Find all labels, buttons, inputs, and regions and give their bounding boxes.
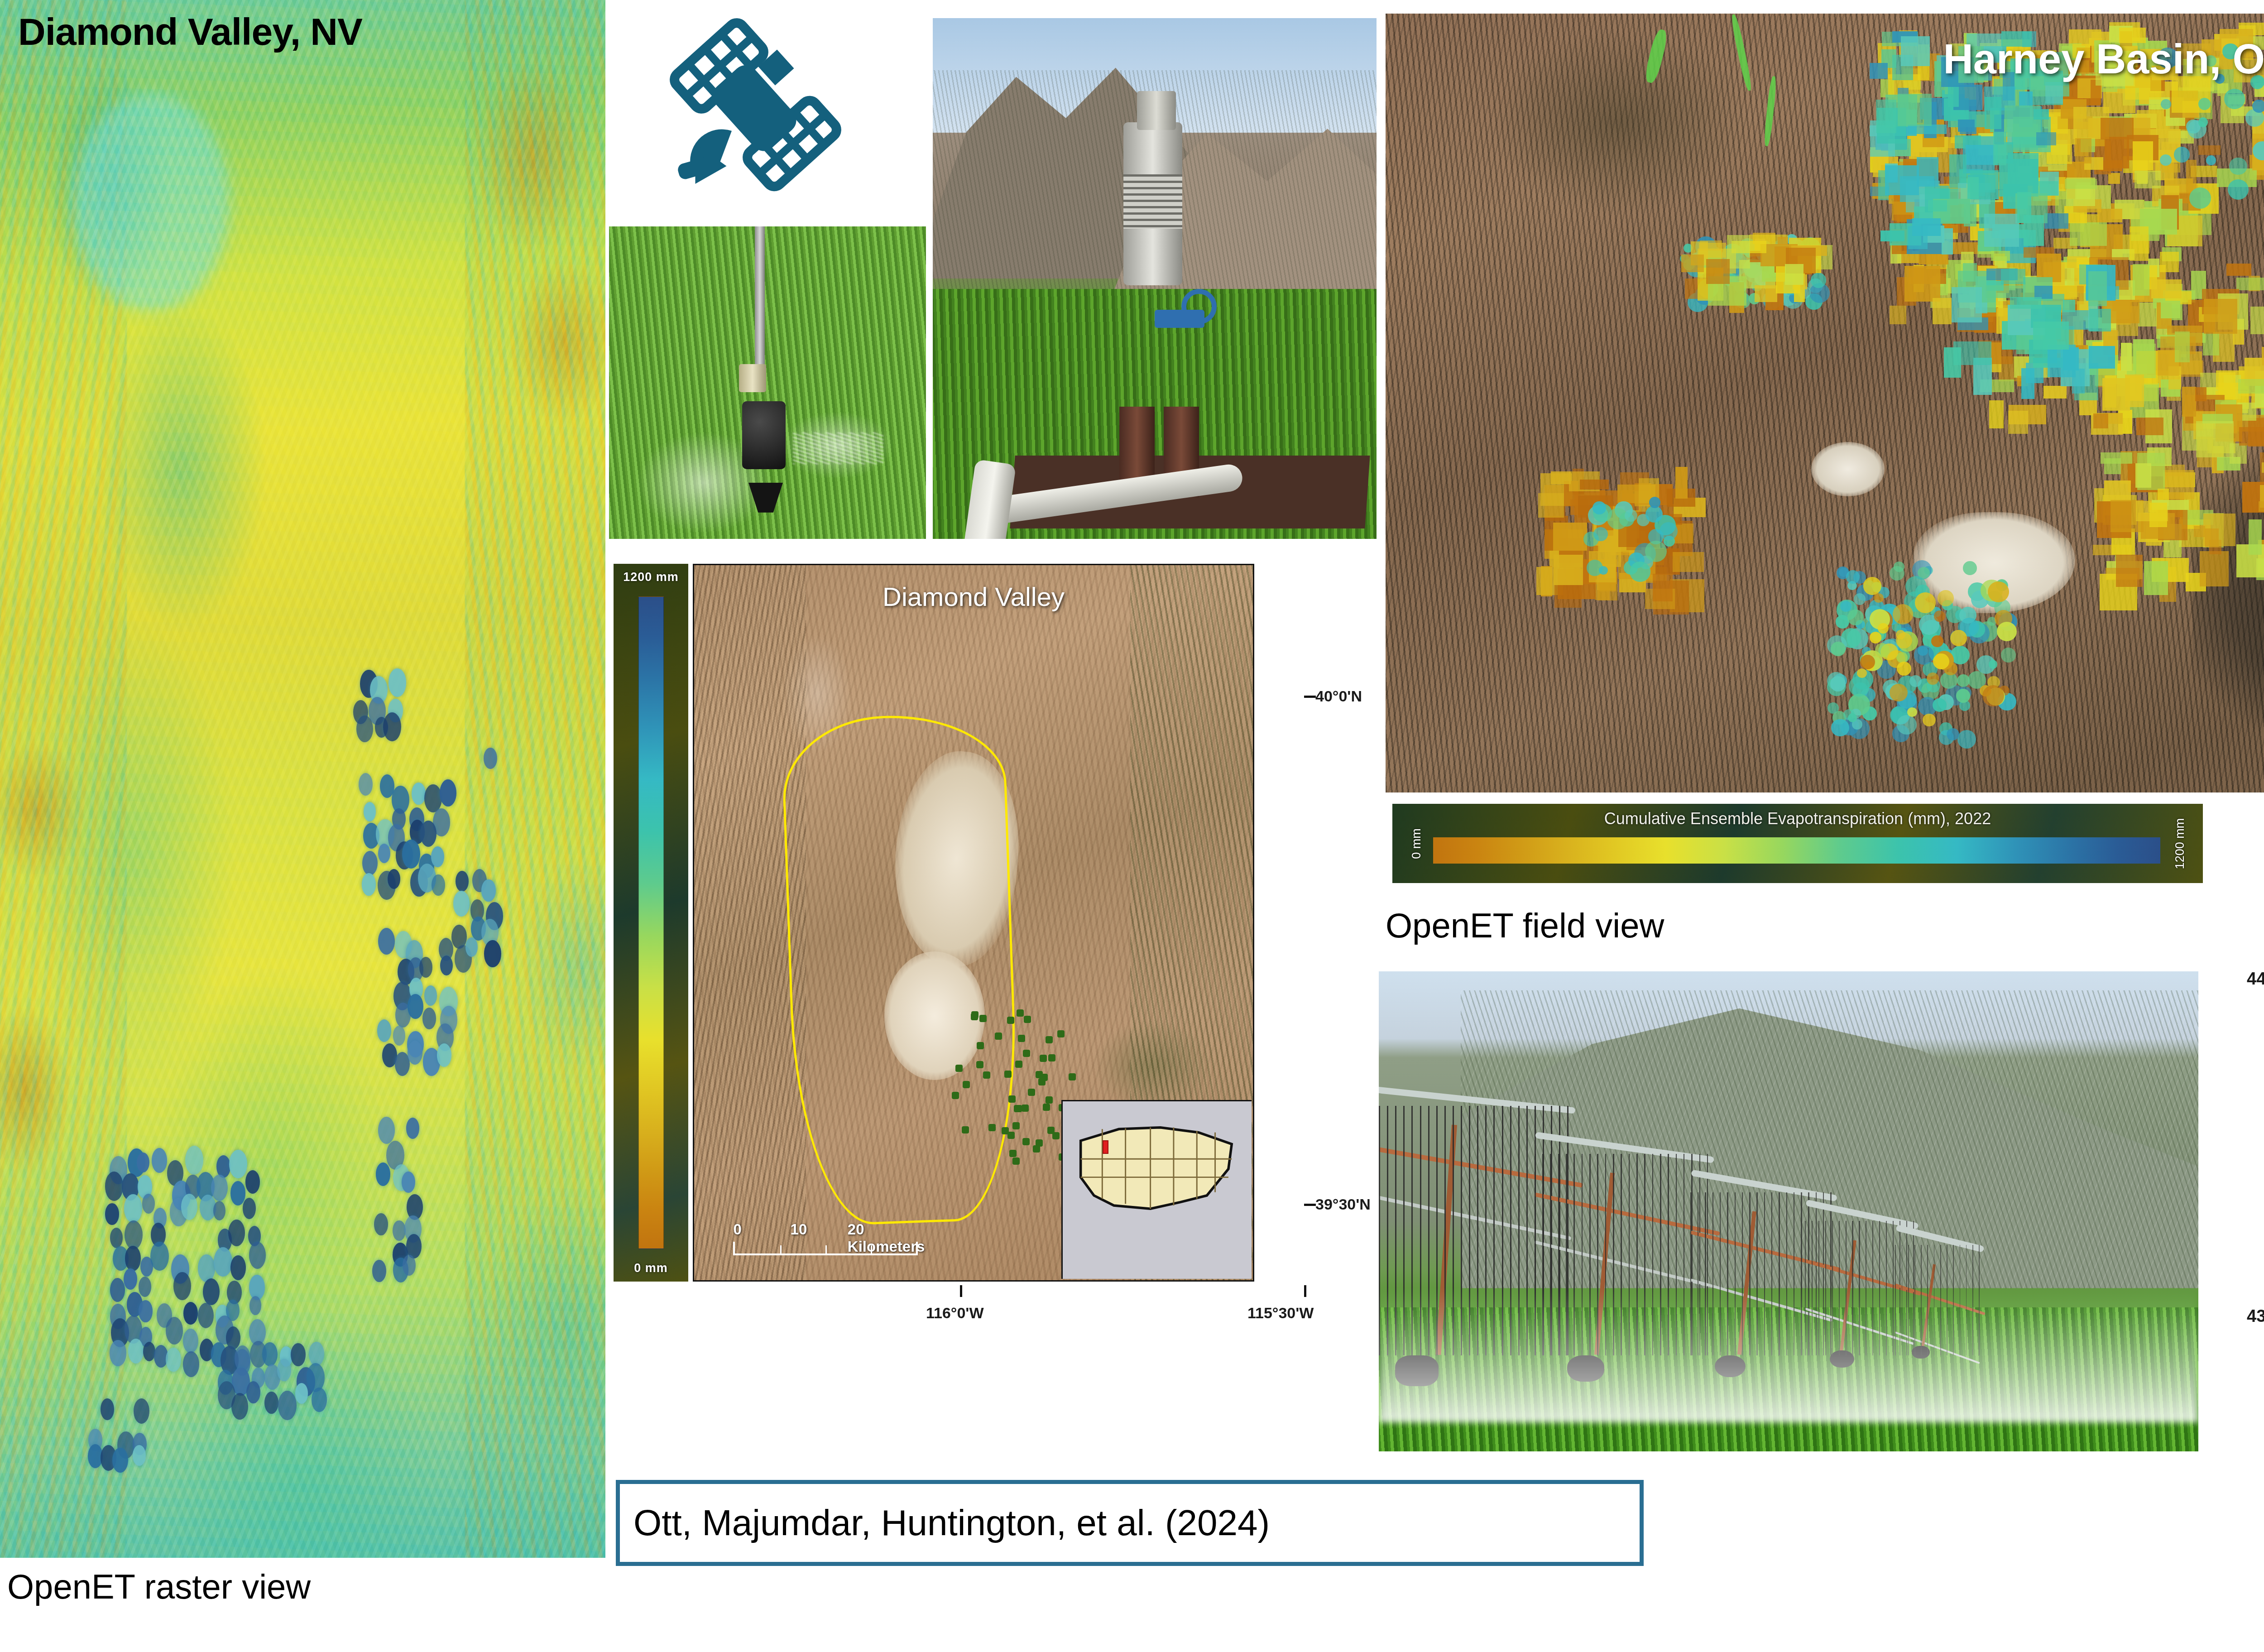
harney-field-polygon [2133, 141, 2153, 170]
dv-scale-tick-10: 10 [791, 1221, 807, 1238]
dv-field-square [1012, 1122, 1020, 1129]
citation-text: Ott, Majumdar, Huntington, et al. (2024) [633, 1502, 1270, 1544]
raster-pivot-circle [359, 773, 373, 796]
harney-field-polygon [2196, 421, 2234, 457]
dv-field-square [977, 1042, 984, 1049]
raster-pivot-circle [262, 1342, 278, 1367]
sprinkler-deflector [748, 483, 783, 513]
harney-pivot-circle [1938, 590, 1954, 606]
harney-pivot-circle [1874, 593, 1884, 603]
harney-field-polygon [2135, 463, 2151, 488]
raster-pivot-circle [309, 1342, 324, 1366]
raster-pivot-circle [372, 1260, 386, 1282]
dv-field-square [1017, 1009, 1024, 1017]
harney-pivot-circle [1915, 592, 1936, 613]
harney-field-polygon [2250, 307, 2264, 334]
harney-field-polygon [1885, 165, 1919, 195]
raster-pivot-circle [412, 783, 426, 805]
raster-pivot-circle [378, 928, 395, 955]
dv-irrigated-fields [951, 1008, 1074, 1166]
harney-field-polygon [1538, 493, 1564, 518]
harney-field-polygon [2070, 222, 2107, 246]
sprinkler-riser [755, 226, 765, 376]
raster-pivot-circle [213, 1201, 225, 1220]
harney-pivot-circle [1897, 662, 1911, 676]
raster-pivot-circle [133, 1445, 146, 1466]
dv-field-square [963, 1081, 970, 1088]
harney-pivot-circle [1950, 630, 1967, 646]
harney-field-polygon [2104, 458, 2121, 474]
harney-field-polygon [2001, 269, 2026, 284]
raster-pivot-circle [110, 1228, 123, 1248]
raster-pivot-circle [125, 1220, 143, 1249]
dv-field-square [983, 1071, 990, 1079]
harney-pivot-circle [1988, 581, 2009, 602]
colorbar-min-label: 0 mm [614, 1261, 688, 1275]
dv-field-square [1048, 1054, 1055, 1061]
harney-pivot-circle [1831, 719, 1849, 737]
openet-raster-map [0, 0, 605, 1558]
harney-field-polygon [2136, 418, 2163, 435]
harney-pivot-circle [1931, 635, 1943, 647]
diamond-valley-satellite-map: Diamond Valley 0 10 20 Kilometers [693, 564, 1254, 1282]
raster-pivot-circle [124, 1194, 142, 1223]
harney-field-polygon [2236, 278, 2264, 290]
harney-basin-locator-figure: Harney Basin 0 25 50 Kilometers [2244, 815, 2264, 1639]
raster-pivot-circle [356, 716, 373, 742]
dv-field-square [1018, 1035, 1025, 1042]
raster-pivot-circle [139, 1300, 152, 1322]
raster-pivot-circle [166, 1317, 183, 1345]
raster-pivot-circle [198, 1254, 215, 1282]
dv-field-square [1057, 1030, 1065, 1037]
harney-field-polygon [1706, 259, 1730, 284]
raster-pivot-circle [229, 1150, 247, 1178]
harney-pivot-circle [1593, 527, 1607, 541]
harney-pivot-circle [1645, 506, 1663, 523]
harney-pivot-circle [1907, 707, 1917, 717]
harney-field-polygon [2102, 378, 2130, 411]
raster-pivot-circle [128, 1339, 144, 1364]
harney-field-polygon [1952, 287, 1982, 322]
dv-scale-tick-0: 0 [733, 1221, 741, 1238]
dv-field-square [1007, 1132, 1015, 1139]
raster-pivot-circle [295, 1383, 308, 1403]
harney-field-polygon [2259, 501, 2264, 512]
dv-field-square [971, 1011, 979, 1018]
harney-field-polygon [2226, 264, 2251, 276]
harney-field-polygon [2089, 346, 2115, 369]
harney-field-polygon [2093, 413, 2108, 428]
harney-field-polygon [2033, 322, 2069, 350]
raster-pivot-circle [307, 1363, 325, 1393]
raster-pivot-circle [364, 802, 376, 821]
dv-field-square [1043, 1104, 1050, 1111]
harney-field-polygon [2151, 279, 2182, 298]
raster-pivot-circle [278, 1391, 297, 1420]
harney-field-polygon [1963, 263, 1977, 282]
raster-pivot-circle [105, 1203, 119, 1225]
harney-field-polygon [2116, 555, 2143, 587]
harney-field-polygon [1967, 177, 1979, 198]
raster-pivot-circle [124, 1268, 137, 1290]
harney-colorbar-strip [1433, 837, 2160, 864]
harney-field-polygon [2195, 387, 2206, 401]
raster-pivot-circle [198, 1303, 214, 1328]
raster-pivot-circle [235, 1345, 250, 1371]
raster-pivot-circle [374, 1213, 388, 1235]
raster-pivot-circle [230, 1181, 246, 1205]
raster-pivot-circle [112, 1448, 128, 1473]
dv-field-square [1008, 1095, 1016, 1103]
dv-field-square [1009, 1150, 1017, 1157]
harney-pivot-circle [1831, 642, 1846, 657]
harney-field-polygon [2205, 528, 2219, 547]
dv-usa-locator-inset [1061, 1100, 1252, 1279]
harney-field-polygon [1898, 94, 1932, 126]
raster-pivot-circle [183, 1302, 197, 1325]
harney-pivot-circle [1857, 668, 1867, 678]
harney-field-polygon [1917, 157, 1938, 187]
pivot-water-mist [1379, 1288, 2198, 1423]
harney-pivot-circle [1847, 610, 1864, 625]
harney-pivot-circle [1875, 643, 1889, 657]
raster-pivot-circle [203, 1278, 220, 1305]
harney-field-polygon [2034, 109, 2049, 120]
harney-pivot-circle [1963, 561, 1977, 575]
raster-pivot-circle [484, 940, 501, 967]
raster-pivot-circle [137, 1153, 149, 1172]
dv-field-square [976, 1061, 983, 1068]
raster-pivot-circle [453, 891, 470, 917]
harney-field-polygon [2121, 343, 2132, 371]
harney-field-polygon [2165, 164, 2178, 185]
harney-pivot-circle [2229, 158, 2247, 175]
raster-pivot-circle [277, 1359, 291, 1381]
harney-pivot-circle [1947, 728, 1959, 740]
harney-pivot-circle [1660, 522, 1678, 540]
harney-pivot-circle [1645, 541, 1667, 562]
harney-pivot-circle [2198, 117, 2208, 127]
harney-pivot-circle [1894, 562, 1904, 572]
harney-field-polygon [1554, 585, 1582, 608]
irrigation-sprinkler-photo [609, 226, 926, 539]
harney-field-polygon [1984, 214, 2019, 247]
raster-pivot-circle [181, 1194, 197, 1220]
harney-pivot-circle [1599, 566, 1608, 575]
harney-pivot-circle [1897, 715, 1916, 735]
harney-field-polygon [1958, 120, 1975, 132]
raster-pivot-circle [214, 1247, 232, 1277]
dv-field-square [1028, 1089, 1035, 1096]
raster-pivot-circle [465, 937, 478, 957]
harney-pivot-circle [2224, 89, 2245, 109]
harney-field-polygon [2017, 192, 2031, 222]
harney-field-polygon [2108, 173, 2120, 184]
harney-field-polygon [2044, 213, 2068, 229]
harney-field-polygon [2089, 309, 2111, 331]
sprinkler-coupler [739, 364, 766, 392]
dv-field-square [1036, 1139, 1043, 1147]
harney-field-polygon [1989, 400, 2004, 428]
citation-box: Ott, Majumdar, Huntington, et al. (2024) [616, 1480, 1644, 1566]
raster-pivot-circle [419, 957, 432, 978]
harney-pivot-circle [1878, 623, 1889, 634]
slide-canvas: Diamond Valley, NV OpenET raster view [0, 0, 2264, 1652]
usa-map-icon [1074, 1116, 1240, 1215]
raster-pivot-circle [143, 1342, 155, 1361]
raster-pivot-circle [393, 1026, 406, 1046]
harney-field-polygon [1785, 264, 1804, 285]
raster-pivot-circle [388, 869, 400, 889]
harney-pivot-circle [1870, 632, 1881, 644]
dv-field-square [995, 1032, 1002, 1040]
dv-tick-lon-11530 [1304, 1285, 1306, 1297]
harney-field-polygon [1675, 467, 1688, 499]
harney-field-polygon [2203, 334, 2219, 356]
harney-pivot-circle [1811, 273, 1826, 288]
raster-pivot-circle [402, 840, 420, 869]
harney-field-polygon [2133, 264, 2149, 296]
dv-field-square [1046, 1096, 1053, 1104]
harney-field-polygon [1890, 306, 1906, 324]
dv-map-title: Diamond Valley [694, 581, 1253, 612]
dv-lon-label-11530: 115°30'W [1247, 1304, 1314, 1322]
raster-pivot-circle [230, 1255, 246, 1280]
dv-field-square [1012, 1157, 1020, 1165]
raster-pivot-circle [211, 1175, 228, 1201]
raster-pivot-circle [422, 1008, 436, 1029]
dv-tick-lon-116 [960, 1285, 962, 1297]
harney-field-polygon [2149, 503, 2167, 527]
raster-pivot-circle [484, 748, 497, 769]
dv-field-square [962, 1126, 969, 1133]
harney-field-polygon [1727, 235, 1751, 269]
raster-pivot-circle [183, 1329, 198, 1353]
raster-pivot-circle [228, 1220, 245, 1246]
raster-pivot-circle [440, 779, 456, 807]
raster-panel-caption: OpenET raster view [7, 1567, 311, 1606]
raster-pivot-circle [101, 1398, 114, 1420]
raster-pivot-circle [249, 1242, 266, 1269]
harney-pivot-circle [1989, 660, 1998, 669]
harney-pivot-circle [1896, 630, 1905, 639]
dv-lat-label-3930: 39°30'N [1315, 1196, 1371, 1213]
raster-pivot-circle [408, 994, 423, 1019]
harney-field-polygon [1880, 231, 1904, 241]
harney-field-polygon [1551, 471, 1571, 485]
raster-pivot-circle [246, 1381, 260, 1403]
colorbar-gradient-strip [638, 596, 664, 1249]
harney-pivot-circle [1927, 672, 1939, 685]
harney-pivot-circle [1592, 501, 1606, 514]
dv-lon-label-116: 116°0'W [926, 1304, 984, 1322]
raster-pivot-circle [150, 1242, 168, 1271]
raster-pivot-circle [431, 846, 444, 868]
harney-field-polygon [2130, 226, 2149, 261]
harney-field-polygon [2010, 297, 2042, 308]
harney-field-polygon [2238, 379, 2264, 394]
raster-pivot-circle [424, 985, 437, 1005]
raster-pivot-circle [432, 874, 445, 896]
harney-field-polygon [1673, 552, 1704, 572]
raster-pivot-circle [362, 851, 378, 875]
satellite-icon [659, 14, 849, 204]
dv-field-square [952, 1092, 959, 1099]
raster-pivot-circle [402, 1172, 415, 1193]
harney-field-polygon [2036, 132, 2056, 145]
dv-field-square [1069, 1073, 1076, 1081]
harney-pivot-circle [1956, 689, 1970, 703]
well-motor-vents [1123, 174, 1182, 229]
harney-field-polygon [2198, 145, 2221, 155]
harney-pivot-circle [1840, 601, 1851, 612]
dv-lat-label-40: 40°0'N [1315, 687, 1362, 705]
raster-pivot-circle [183, 1351, 199, 1377]
dv-field-square [1046, 1036, 1053, 1043]
dv-field-square [1007, 1017, 1014, 1024]
well-motor-cap [1137, 91, 1176, 130]
raster-pivot-circle [362, 873, 376, 896]
harney-field-polygon [1904, 266, 1940, 302]
raster-pivot-circle [243, 1198, 256, 1219]
dv-field-square [979, 1015, 987, 1022]
harney-field-polygon [2088, 271, 2107, 306]
harney-field-polygon [1993, 132, 2006, 165]
harney-field-polygon [1653, 574, 1673, 601]
harney-field-polygon [2182, 387, 2196, 417]
raster-pivot-circle [173, 1272, 191, 1300]
dv-field-square [955, 1065, 963, 1072]
harney-field-polygon [2063, 347, 2079, 370]
raster-pivot-circle [376, 1162, 391, 1186]
dv-tick-lat-40 [1304, 696, 1316, 698]
harney-field-polygon [2262, 394, 2264, 407]
harney-field-polygon [2144, 561, 2168, 595]
harney-field-polygon [2200, 551, 2229, 586]
dv-scalebar: 0 10 20 Kilometers [733, 1221, 917, 1255]
raster-pivot-circle [110, 1340, 126, 1366]
raster-pivot-circle [456, 871, 469, 892]
harney-pivot-circle [1982, 685, 2004, 706]
harney-field-polygon [2262, 462, 2264, 472]
harney-pivot-circle [1934, 610, 1945, 622]
sprinkler-spray [793, 432, 883, 464]
harney-field-polygon [1681, 255, 1704, 272]
diamond-valley-colorbar: 1200 mm Cumulative Ensemble Evapotranspi… [614, 564, 688, 1282]
raster-pivot-circle [110, 1278, 125, 1302]
raster-pivot-circle [185, 1146, 203, 1175]
harney-field-polygon [1908, 125, 1947, 134]
raster-pivot-circle [152, 1148, 168, 1173]
raster-pivot-circle [245, 1170, 260, 1194]
harney-field-polygon [1908, 226, 1928, 249]
dv-field-square [988, 1124, 996, 1131]
dv-field-square [1022, 1105, 1029, 1112]
harney-field-polygon [2194, 526, 2205, 537]
raster-pivot-circle [377, 1019, 391, 1042]
raster-pivot-circle [125, 1246, 141, 1271]
raster-pivot-circle [420, 821, 436, 847]
dv-field-square [1023, 1050, 1030, 1057]
dv-field-square [1024, 1016, 1031, 1023]
harney-field-polygon [2262, 347, 2264, 365]
harney-panel-caption: OpenET field view [1386, 906, 1664, 945]
groundwater-well-pump-photo [933, 18, 1377, 539]
raster-pivot-circle [408, 1041, 422, 1065]
raster-pivot-circle [440, 956, 453, 975]
harney-field-polygon [1933, 298, 1952, 324]
openet-field-view-map: Harney Basin, OR [1386, 14, 2264, 792]
harney-field-polygon [2105, 137, 2129, 168]
raster-pivot-circle [378, 1117, 395, 1144]
harney-colorbar-min: 0 mm [1410, 828, 1424, 859]
harney-field-polygon [2065, 179, 2096, 189]
harney-field-polygon [2134, 171, 2161, 188]
harney-colorbar-max: 1200 mm [2173, 818, 2187, 869]
raster-pivot-circle [393, 1220, 405, 1241]
harney-field-polygon [1755, 285, 1777, 302]
hb-lat-label-43: 43° N [2247, 1306, 2264, 1326]
harney-pivot-circle [1957, 730, 1976, 749]
raster-pivot-circle [139, 1277, 151, 1297]
harney-field-polygon [2063, 300, 2075, 312]
dv-tick-lat-3930 [1304, 1204, 1316, 1206]
harney-field-polygon [2204, 299, 2237, 334]
raster-field-circles [0, 0, 605, 1558]
harney-pivot-circle [2252, 100, 2264, 113]
harney-panel-title: Harney Basin, OR [1386, 35, 2264, 83]
dv-field-square [1022, 1138, 1030, 1145]
raster-pivot-circle [134, 1398, 149, 1424]
dv-field-square [1014, 1105, 1021, 1112]
raster-pivot-circle [231, 1393, 248, 1420]
harney-pivot-circle [2001, 648, 2016, 663]
harney-pivot-circle [1630, 562, 1650, 582]
harney-colorbar-label: Cumulative Ensemble Evapotranspiration (… [1392, 809, 2203, 828]
harney-field-polygon [2021, 368, 2034, 399]
harney-pivot-circle [2161, 99, 2171, 109]
dv-field-square [1038, 1078, 1046, 1085]
raster-pivot-circle [437, 1043, 451, 1067]
harney-field-polygon [1928, 200, 1947, 211]
harney-field-polygon [2043, 386, 2067, 399]
harney-field-polygon [1580, 480, 1609, 490]
harney-pivot-circle [1893, 604, 1914, 624]
harney-field-polygon [2008, 411, 2028, 434]
raster-pivot-circle [389, 668, 406, 697]
harney-pivot-circle [2160, 154, 2171, 166]
harney-stream [1763, 76, 1777, 146]
harney-field-polygon [1553, 523, 1587, 551]
harney-field-polygon [2239, 427, 2264, 446]
harney-field-polygon [1876, 100, 1896, 133]
raster-pivot-circle [383, 712, 401, 741]
dv-field-square [1040, 1055, 1047, 1062]
raster-pivot-circle [249, 1296, 262, 1316]
harney-pivot-circle [1890, 684, 1908, 701]
raster-pivot-circle [312, 1388, 327, 1412]
raster-pivot-circle [378, 844, 390, 863]
harney-field-polygon [2161, 301, 2180, 318]
harney-pivot-circle [1997, 622, 2017, 641]
raster-pivot-circle [166, 1348, 181, 1372]
harney-field-polygons [1386, 14, 2264, 792]
harney-pivot-circle [1923, 714, 1936, 726]
raster-pivot-circle [406, 1118, 420, 1139]
raster-pivot-circle [264, 1392, 278, 1414]
well-valve-wheel [1181, 289, 1217, 324]
